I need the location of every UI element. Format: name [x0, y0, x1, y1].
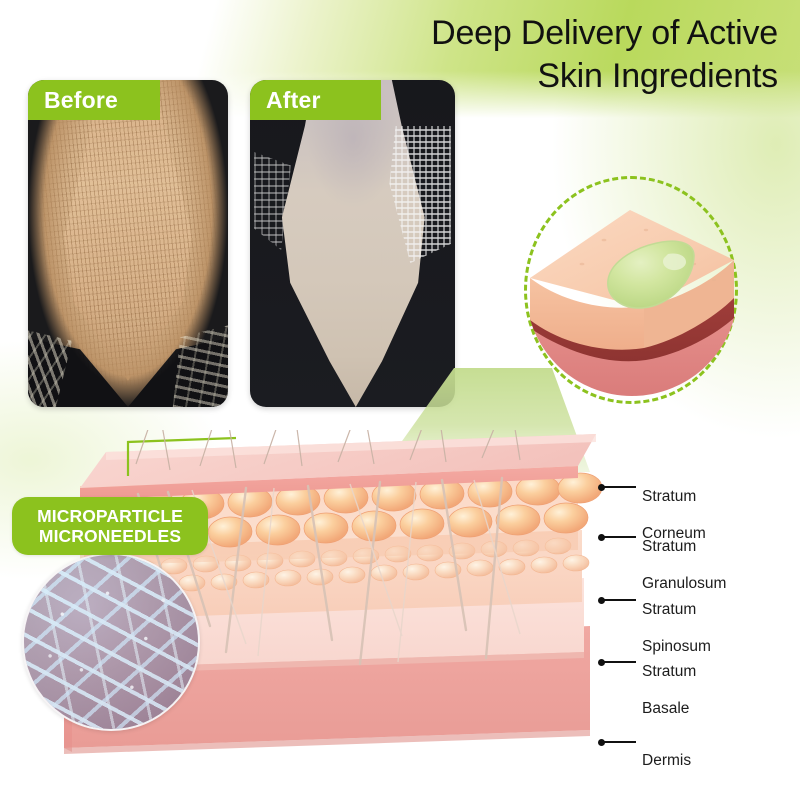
- before-label-text: Before: [44, 87, 118, 114]
- label-dermis-line1: Dermis: [642, 752, 691, 771]
- after-photo-card: After: [250, 80, 455, 407]
- microparticle-microneedles-badge: MICROPARTICLE MICRONEEDLES: [12, 497, 208, 555]
- microneedle-micrograph-circle: [22, 553, 200, 731]
- label-stratum-spinosum-line1: Stratum: [642, 601, 711, 620]
- label-stratum-basale-line1: Stratum: [642, 663, 696, 682]
- before-garment: [28, 296, 228, 407]
- label-stratum-basale: Stratum Basale: [642, 644, 696, 737]
- leader-bar: [601, 486, 636, 488]
- after-label-text: After: [266, 87, 321, 114]
- after-label-banner: After: [250, 80, 381, 120]
- label-dermis: Dermis: [642, 733, 691, 789]
- before-garment-pattern-left: [28, 322, 228, 407]
- badge-line-1: MICROPARTICLE: [37, 506, 183, 526]
- leader-bar: [601, 599, 636, 601]
- label-stratum-granulosum-line1: Stratum: [642, 538, 726, 557]
- badge-line-2: MICRONEEDLES: [39, 526, 181, 546]
- before-photo-card: Before: [28, 80, 228, 407]
- before-label-banner: Before: [28, 80, 160, 120]
- leader-bar: [601, 536, 636, 538]
- after-photo-image: [250, 80, 455, 407]
- label-stratum-corneum-line1: Stratum: [642, 488, 706, 507]
- before-neck-region: [52, 100, 204, 381]
- leader-bar: [601, 741, 636, 743]
- poster-canvas: Deep Delivery of Active Skin Ingredients…: [0, 0, 800, 800]
- before-photo-image: [28, 80, 228, 407]
- before-garment-pattern-right: [136, 322, 228, 407]
- leader-bar: [601, 661, 636, 663]
- micrograph-tint: [24, 555, 198, 729]
- page-title-line-1: Deep Delivery of Active: [258, 12, 778, 55]
- label-stratum-basale-line2: Basale: [642, 700, 696, 719]
